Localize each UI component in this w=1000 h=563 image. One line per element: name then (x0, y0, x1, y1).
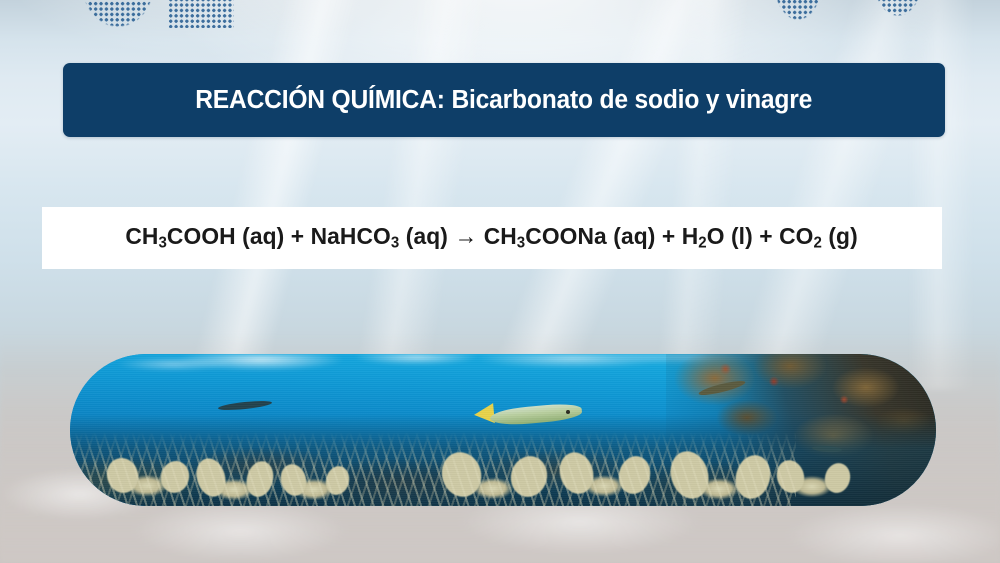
fish-tail (473, 403, 495, 425)
title-banner: REACCIÓN QUÍMICA: Bicarbonato de sodio y… (63, 63, 945, 137)
halftone-dots-icon-top-left-2 (168, 0, 234, 28)
coral-branch-texture (70, 432, 796, 506)
halftone-dots-icon-top-right-2 (865, 0, 931, 28)
slide-canvas: REACCIÓN QUÍMICA: Bicarbonato de sodio y… (0, 0, 1000, 563)
chemical-equation: CH3COOH (aq) + NaHCO3 (aq) → CH3COONa (a… (126, 223, 858, 252)
halftone-dots-icon-top-right-1 (765, 0, 831, 34)
background-light-rays (0, 0, 1000, 390)
fish-eye (566, 410, 570, 414)
halftone-dots-icon-top-left-1 (66, 0, 170, 48)
page-title: REACCIÓN QUÍMICA: Bicarbonato de sodio y… (196, 86, 813, 115)
equation-banner: CH3COOH (aq) + NaHCO3 (aq) → CH3COONa (a… (42, 207, 942, 269)
coral-reef-photo (70, 354, 936, 506)
